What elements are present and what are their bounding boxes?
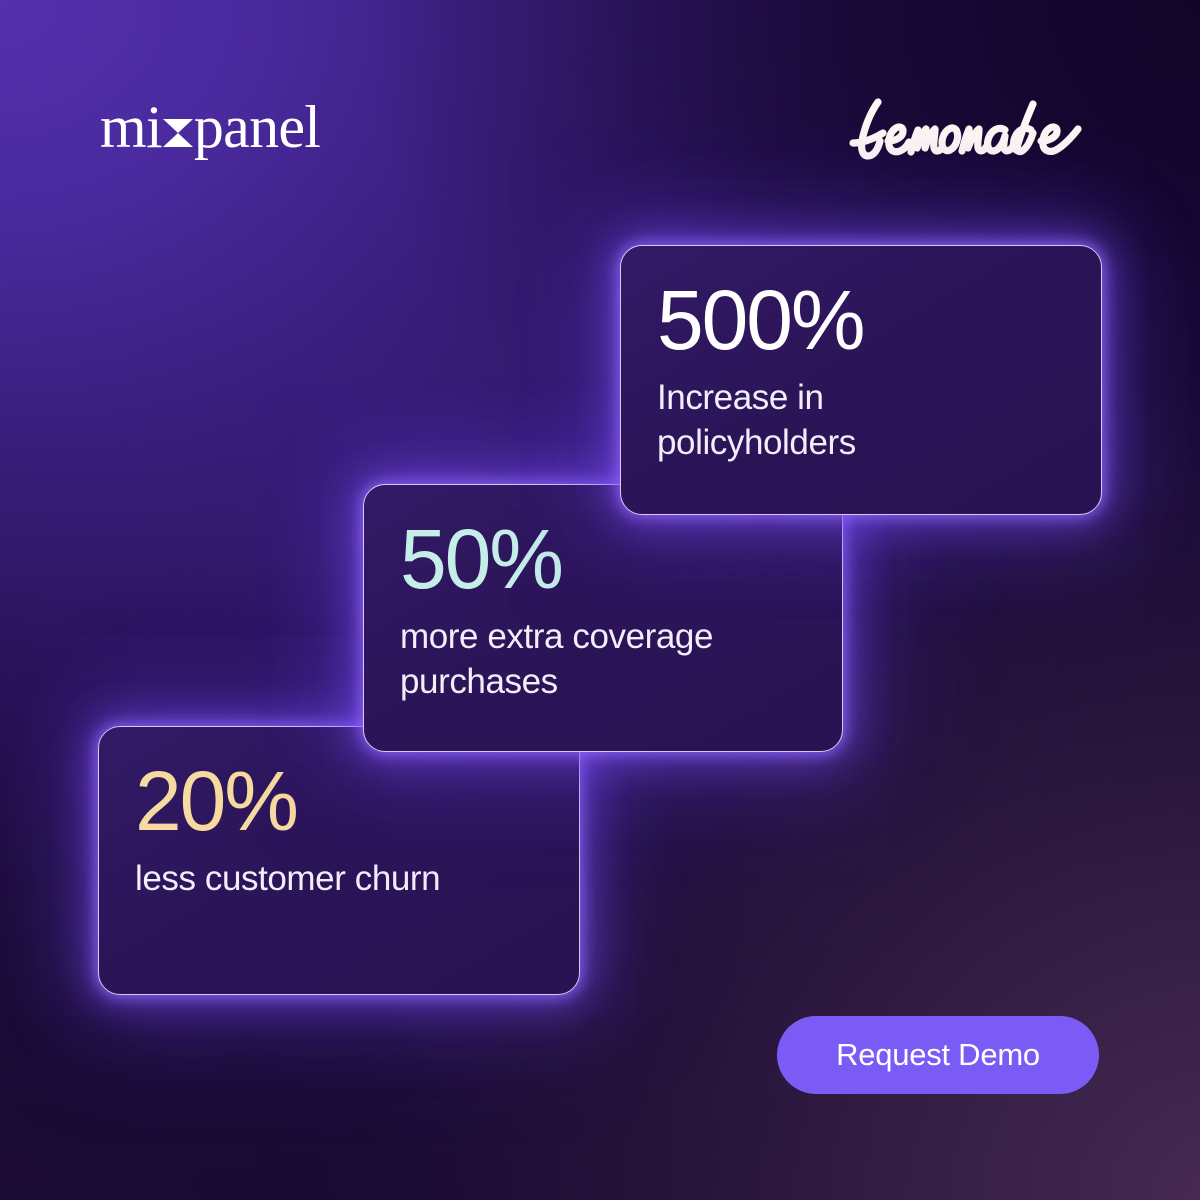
mixpanel-logo: mi panel [100, 97, 320, 157]
request-demo-button[interactable]: Request Demo [777, 1016, 1099, 1094]
stat-label: more extra coverage purchases [400, 614, 806, 705]
stat-value: 500% [657, 280, 1065, 361]
stat-label: less customer churn [135, 856, 455, 902]
promo-graphic: mi panel [0, 0, 1200, 1200]
stat-card-policyholders: 500% Increase in policyholders [620, 245, 1102, 515]
mixpanel-logo-text-start: mi [100, 97, 162, 157]
stat-value: 50% [400, 519, 806, 600]
mixpanel-logo-text-end: panel [194, 97, 320, 157]
stat-card-coverage: 50% more extra coverage purchases [363, 484, 843, 752]
stat-label: Increase in policyholders [657, 375, 967, 466]
lemonade-logo [845, 96, 1103, 166]
stat-value: 20% [135, 761, 543, 842]
x-bowtie-icon [163, 118, 193, 148]
stat-card-churn: 20% less customer churn [98, 726, 580, 995]
